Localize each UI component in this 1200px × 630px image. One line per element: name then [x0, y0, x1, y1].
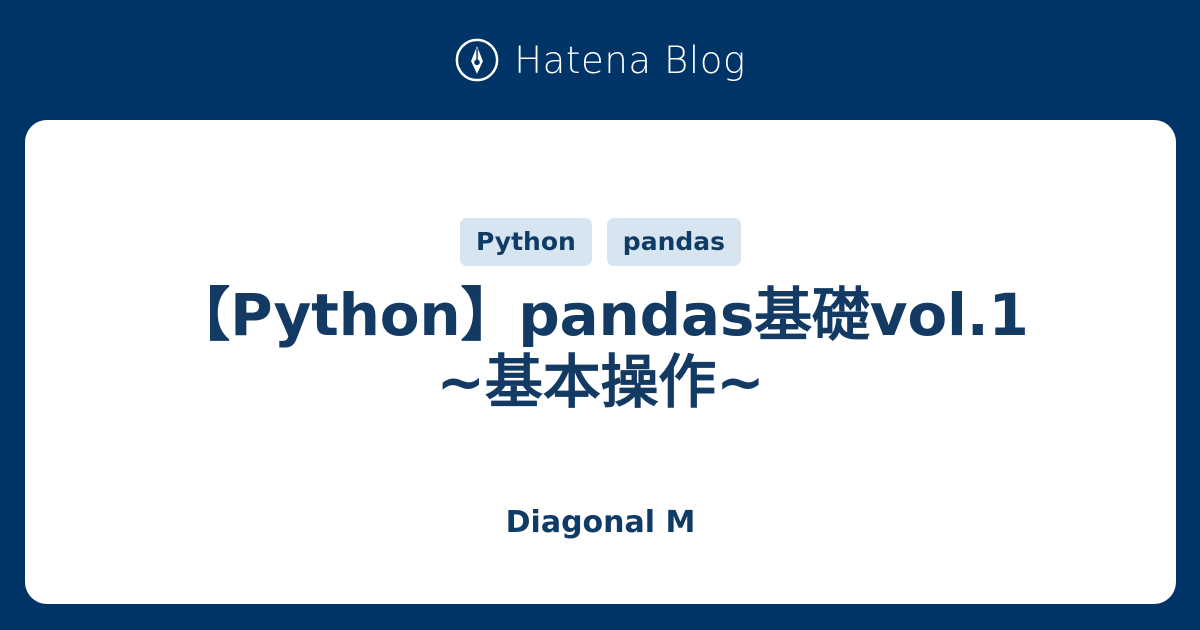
- hatena-blog-brand-name: Hatena Blog: [514, 42, 746, 79]
- blog-name: Diagonal M: [25, 508, 1176, 538]
- hatena-blog-branding: Hatena Blog: [0, 0, 1200, 120]
- entry-tag-python[interactable]: Python: [460, 218, 592, 266]
- hatena-blog-og-card: Hatena Blog Python pandas 【Python】pandas…: [0, 0, 1200, 630]
- fountain-pen-nib-circle-icon: [454, 37, 500, 83]
- entry-tag-list: Python pandas: [460, 218, 741, 266]
- entry-title: 【Python】pandas基礎vol.1 ~基本操作~: [151, 282, 1051, 417]
- entry-card: Python pandas 【Python】pandas基礎vol.1 ~基本操…: [25, 120, 1176, 604]
- entry-tag-pandas[interactable]: pandas: [607, 218, 741, 266]
